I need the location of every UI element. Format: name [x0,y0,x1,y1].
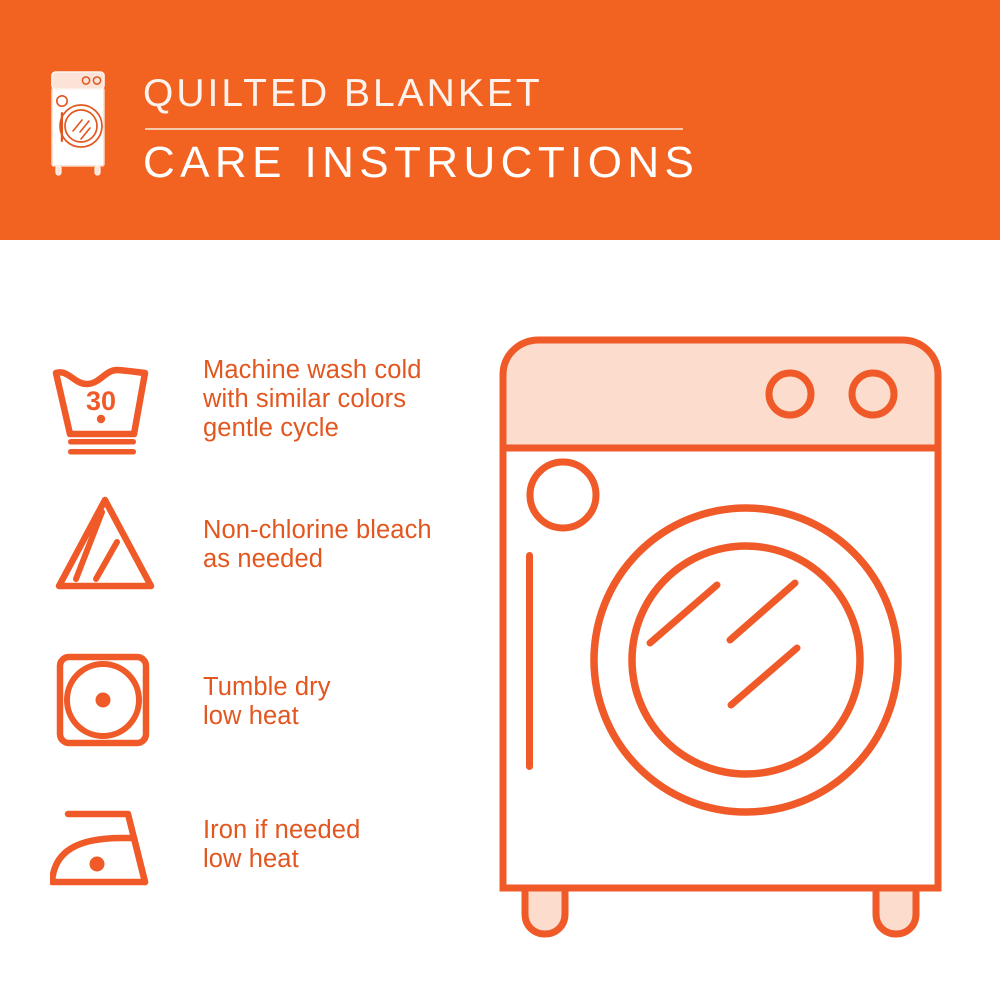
tumble-dry-low-icon [50,645,160,755]
care-instruction-list: 30 Machine wash cold with similar colors… [0,240,500,1000]
indicator-bar [526,552,533,770]
knob-right [852,373,894,415]
care-line-1: Tumble dry [203,673,488,702]
care-row-iron: Iron if needed low heat [50,790,480,940]
care-row-wash: 30 Machine wash cold with similar colors… [50,350,480,500]
care-text-bleach: Non-chlorine bleach as needed [203,516,488,574]
knob-left [769,373,811,415]
care-text-tumble-dry: Tumble dry low heat [203,673,488,731]
wash-temperature-value: 30 [86,386,116,416]
bleach-triangle-icon [50,490,160,600]
care-row-bleach: Non-chlorine bleach as needed [50,490,480,640]
front-load-washing-machine-illustration [495,330,965,945]
header-band: QUILTED BLANKET CARE INSTRUCTIONS [0,0,1000,240]
care-line-2: with similar colors [203,385,488,414]
iron-low-heat-icon [50,790,160,900]
care-line-3: gentle cycle [203,414,488,443]
care-line-2: low heat [203,845,488,874]
machine-body [503,448,938,888]
care-row-tumble-dry: Tumble dry low heat [50,645,480,795]
care-line-2: as needed [203,545,488,574]
leg-right [876,888,916,934]
washing-machine-icon [48,68,110,178]
care-line-1: Iron if needed [203,816,488,845]
care-instructions-page: QUILTED BLANKET CARE INSTRUCTIONS 30 [0,0,1000,1000]
header-title-block: QUILTED BLANKET CARE INSTRUCTIONS [143,72,743,187]
page-title-product: QUILTED BLANKET [143,72,743,116]
wash-tub-30-icon: 30 [50,350,160,460]
care-line-2: low heat [203,702,488,731]
care-line-1: Non-chlorine bleach [203,516,488,545]
title-divider [145,128,683,130]
care-text-wash: Machine wash cold with similar colors ge… [203,356,488,443]
care-text-iron: Iron if needed low heat [203,816,488,874]
leg-left [525,888,565,934]
care-line-1: Machine wash cold [203,356,488,385]
page-title-main: CARE INSTRUCTIONS [143,139,743,187]
